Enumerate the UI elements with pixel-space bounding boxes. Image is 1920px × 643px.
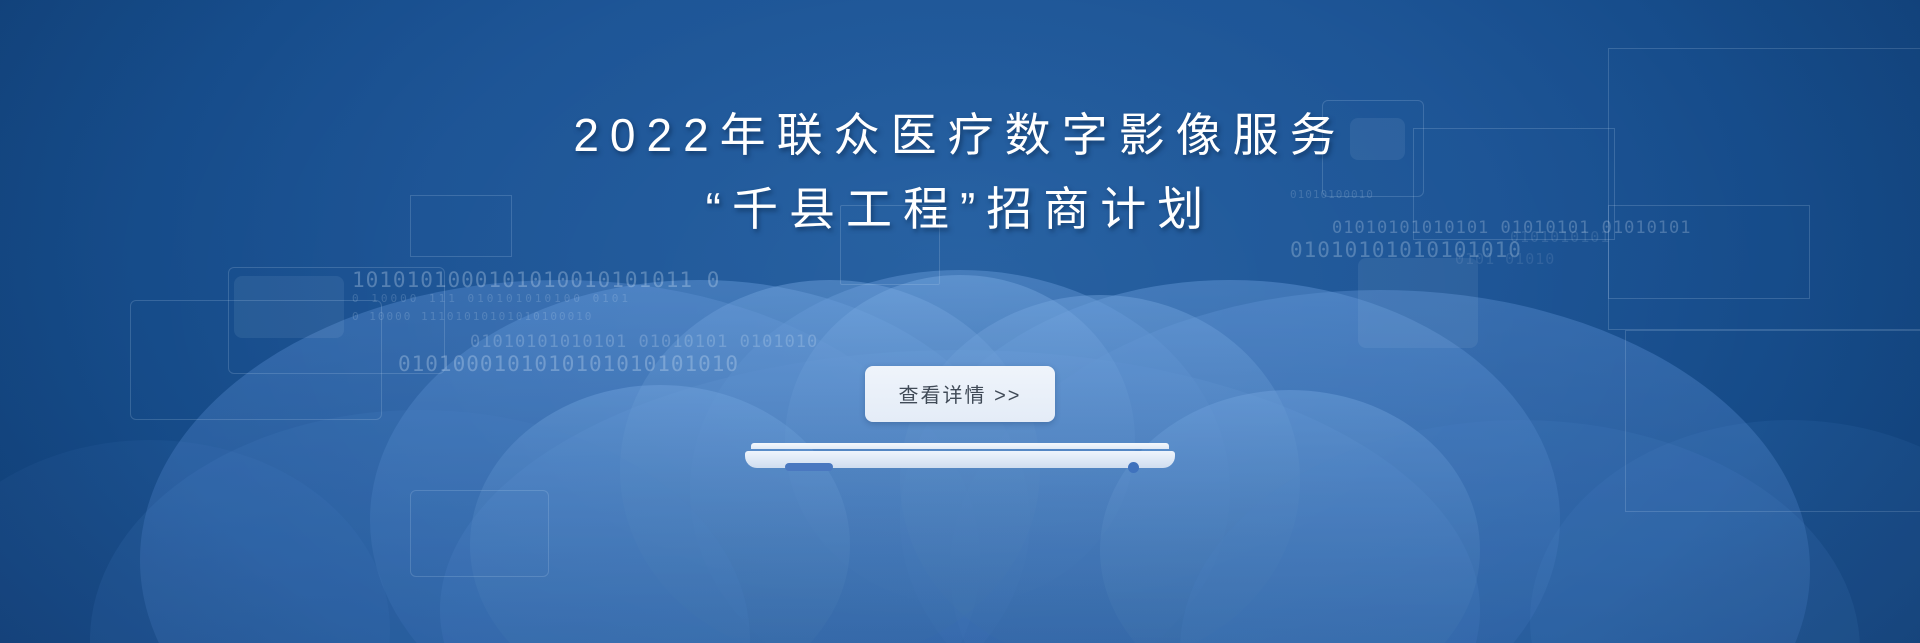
laptop-illustration bbox=[745, 443, 1175, 473]
decorative-square-fill bbox=[234, 276, 344, 338]
headline-line-1: 2022年联众医疗数字影像服务 bbox=[0, 98, 1920, 172]
decorative-square-outline bbox=[410, 490, 549, 577]
decorative-square-fill bbox=[1358, 258, 1478, 348]
binary-code-text: 0101 01010 bbox=[1455, 250, 1555, 268]
headline-line-2: “千县工程”招商计划 bbox=[0, 172, 1920, 246]
promo-banner: 1010101000101010010101011 0 0 10000 111 … bbox=[0, 0, 1920, 643]
binary-code-text: 1010101000101010010101011 0 bbox=[352, 268, 720, 292]
laptop-lid bbox=[751, 443, 1169, 449]
cta-container: 查看详情 >> bbox=[0, 366, 1920, 422]
view-details-button[interactable]: 查看详情 >> bbox=[865, 366, 1056, 422]
laptop-base bbox=[745, 451, 1175, 468]
binary-code-text: 01010101010101 01010101 0101010 bbox=[470, 332, 818, 352]
laptop-indicator-dot-icon bbox=[1128, 462, 1139, 473]
banner-headline: 2022年联众医疗数字影像服务 “千县工程”招商计划 bbox=[0, 98, 1920, 246]
binary-code-text: 0 10000 11101010101010100010 bbox=[352, 310, 593, 323]
binary-code-text: 0 10000 111 010101010100 0101 bbox=[352, 292, 631, 305]
laptop-notch-icon bbox=[785, 463, 833, 471]
